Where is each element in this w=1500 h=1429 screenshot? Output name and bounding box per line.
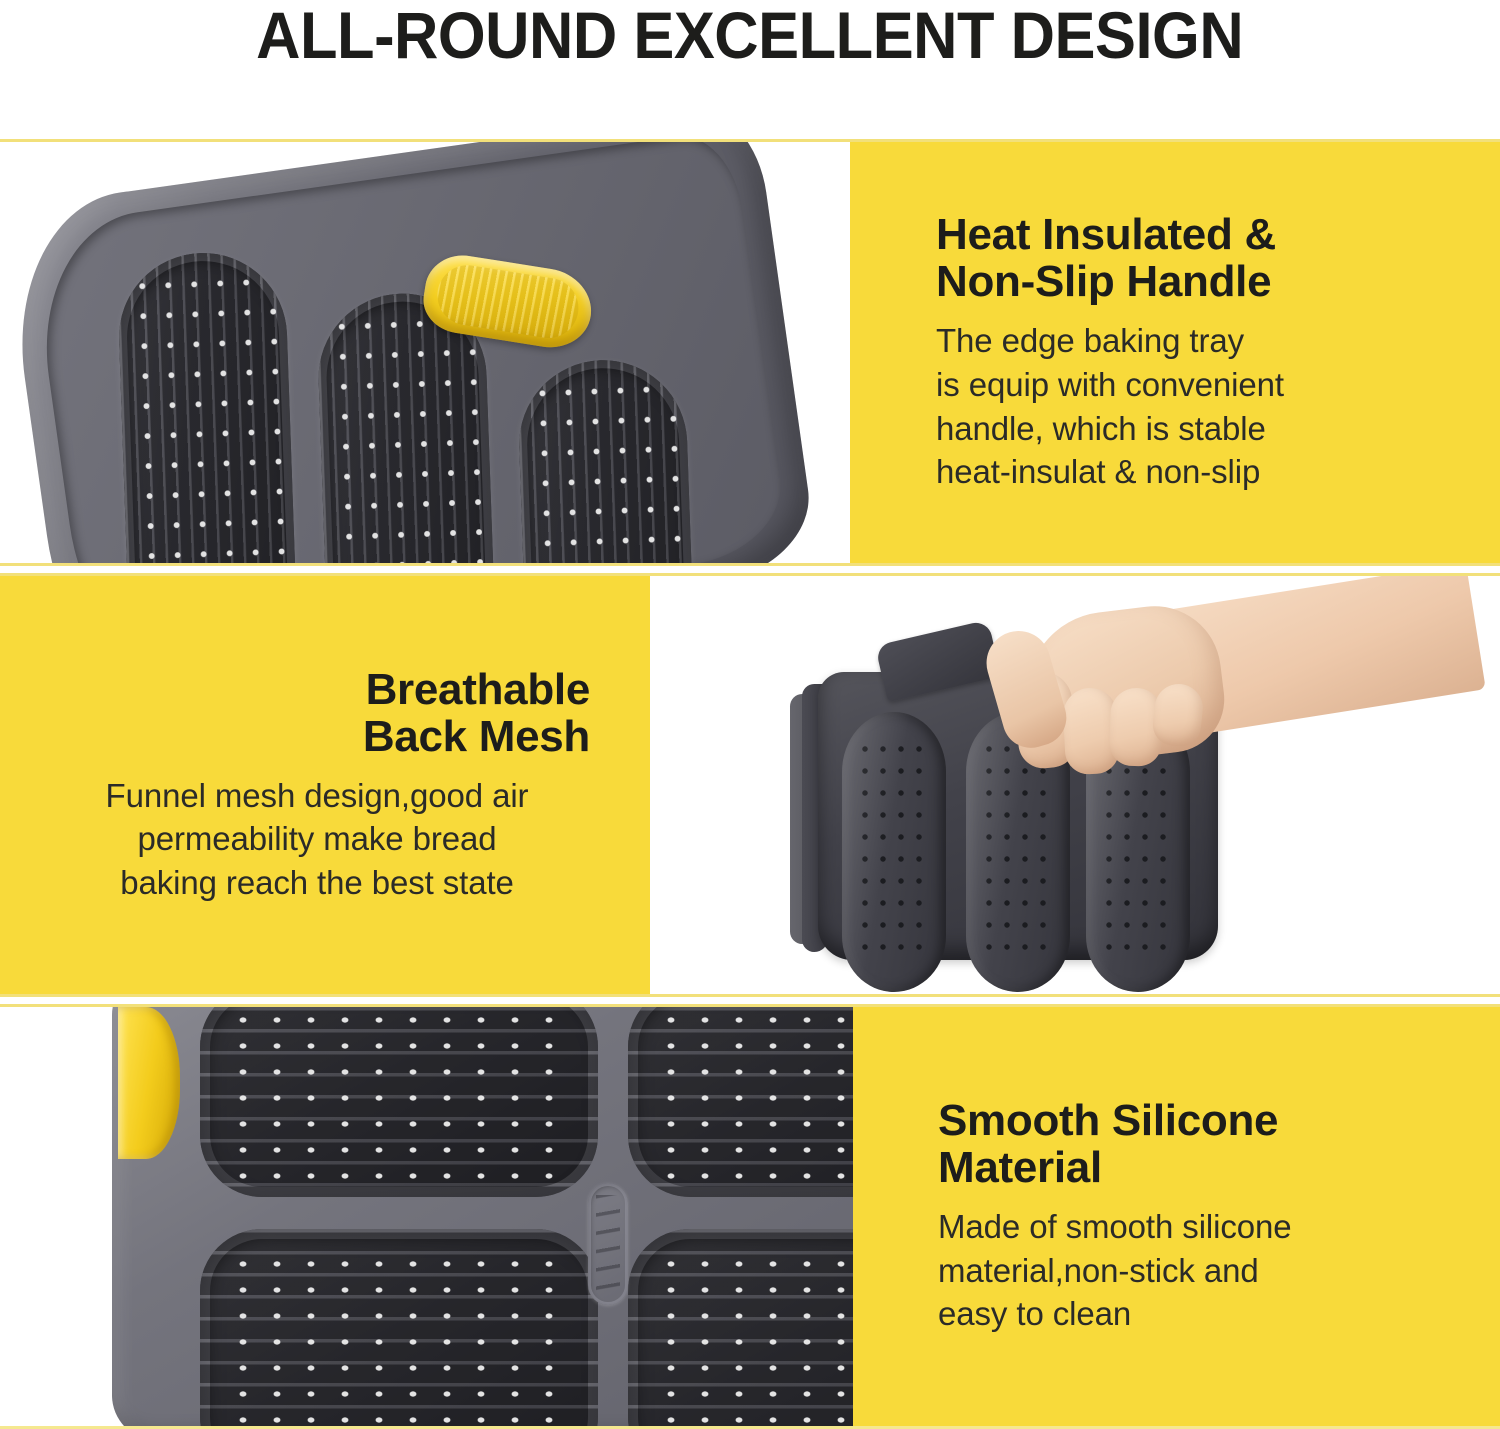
photo-hand-holding-tray-mesh-underside xyxy=(650,576,1500,994)
feature-row-heat-insulated-handle: Heat Insulated & Non-Slip Handle The edg… xyxy=(0,139,1500,566)
cavity-perforations xyxy=(650,1007,853,1181)
cavity-perforations xyxy=(222,1245,576,1426)
feature-text-panel-1: Heat Insulated & Non-Slip Handle The edg… xyxy=(850,142,1500,563)
feature-body-1-line-2: is equip with convenient xyxy=(936,363,1462,407)
page-title: ALL-ROUND EXCELLENT DESIGN xyxy=(256,0,1243,68)
feature-heading-1-line-1: Heat Insulated & xyxy=(936,211,1462,258)
hand-illustration xyxy=(930,584,1470,814)
feature-heading-3: Smooth Silicone Material xyxy=(938,1097,1464,1191)
feature-text-panel-2: Breathable Back Mesh Funnel mesh design,… xyxy=(0,576,650,994)
photo-tray-top-view-closeup-cavities xyxy=(0,1007,853,1426)
product-photo-1 xyxy=(0,142,850,563)
feature-row-smooth-silicone-material: Smooth Silicone Material Made of smooth … xyxy=(0,1004,1500,1429)
feature-body-2-line-1: Funnel mesh design,good air xyxy=(44,774,590,818)
feature-heading-3-line-1: Smooth Silicone xyxy=(938,1097,1464,1144)
cavity-perforations xyxy=(650,1245,853,1426)
feature-row-breathable-back-mesh: Breathable Back Mesh Funnel mesh design,… xyxy=(0,573,1500,997)
cavity-perforations xyxy=(222,1007,576,1181)
product-photo-3 xyxy=(0,1007,853,1426)
yellow-handle-grip xyxy=(118,1007,180,1159)
feature-heading-2: Breathable Back Mesh xyxy=(44,666,590,760)
feature-body-1-line-3: handle, which is stable xyxy=(936,407,1462,451)
tray-cavity-top-right xyxy=(628,1007,853,1197)
feature-body-3: Made of smooth silicone material,non-sti… xyxy=(938,1205,1464,1336)
cavity-perforations xyxy=(326,303,487,563)
feature-body-1-line-1: The edge baking tray xyxy=(936,319,1462,363)
infographic-page: ALL-ROUND EXCELLENT DESIGN xyxy=(0,0,1500,1429)
tray-cavity-1 xyxy=(116,250,299,563)
feature-heading-3-line-2: Material xyxy=(938,1144,1464,1191)
photo-baguette-tray-angled-with-yellow-handle xyxy=(0,142,850,563)
feature-heading-1-line-2: Non-Slip Handle xyxy=(936,258,1462,305)
feature-body-3-line-3: easy to clean xyxy=(938,1292,1464,1336)
cavity-perforations xyxy=(127,263,289,563)
feature-body-3-line-2: material,non-stick and xyxy=(938,1249,1464,1293)
feature-body-2-line-2: permeability make bread xyxy=(44,817,590,861)
cavity-perforations xyxy=(527,370,686,563)
page-title-bar: ALL-ROUND EXCELLENT DESIGN xyxy=(0,0,1500,140)
feature-body-2: Funnel mesh design,good air permeability… xyxy=(44,774,590,905)
feature-heading-2-line-1: Breathable xyxy=(44,666,590,713)
tray-cavity-top-left xyxy=(200,1007,598,1197)
tray-cavity-bottom-left xyxy=(200,1229,598,1426)
tray-illustration xyxy=(1,142,849,563)
tray-cavity-3 xyxy=(516,357,696,563)
feature-text-panel-3: Smooth Silicone Material Made of smooth … xyxy=(853,1007,1500,1426)
embossed-baguette-logo-icon xyxy=(588,1183,628,1305)
feature-body-1: The edge baking tray is equip with conve… xyxy=(936,319,1462,493)
feature-body-3-line-1: Made of smooth silicone xyxy=(938,1205,1464,1249)
tray-cavity-bottom-right xyxy=(628,1229,853,1426)
feature-body-1-line-4: heat-insulat & non-slip xyxy=(936,450,1462,494)
feature-body-2-line-3: baking reach the best state xyxy=(44,861,590,905)
feature-heading-1: Heat Insulated & Non-Slip Handle xyxy=(936,211,1462,305)
feature-heading-2-line-2: Back Mesh xyxy=(44,713,590,760)
product-photo-2 xyxy=(650,576,1500,994)
